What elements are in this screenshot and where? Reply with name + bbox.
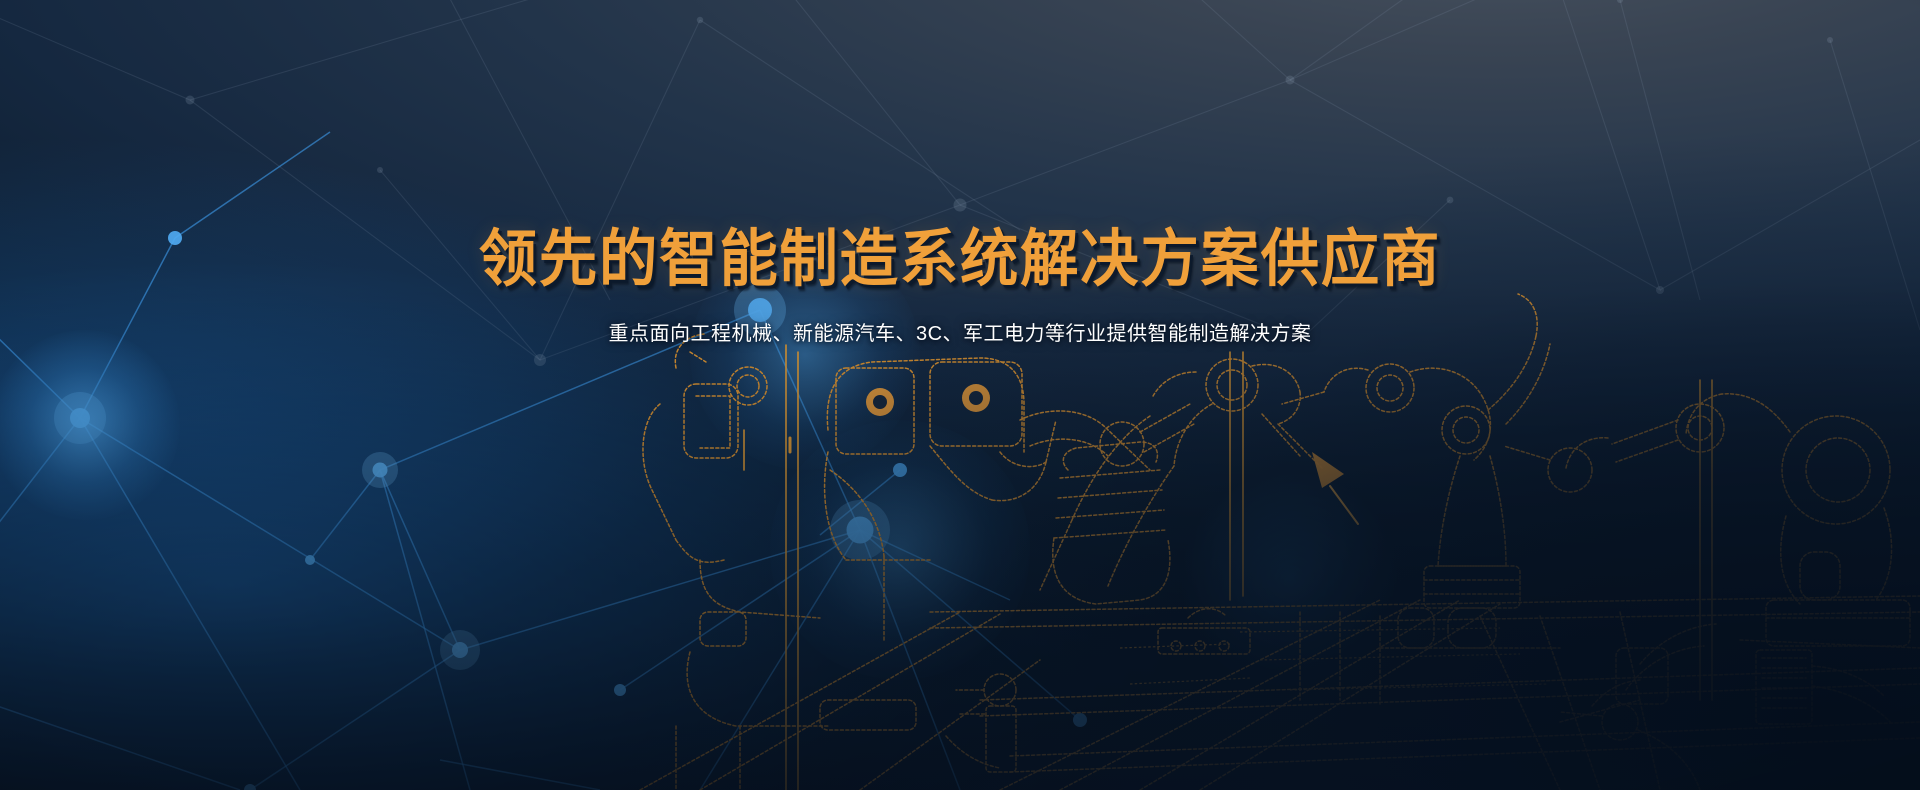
hero-banner: 领先的智能制造系统解决方案供应商 重点面向工程机械、新能源汽车、3C、军工电力等…	[0, 0, 1920, 790]
background-vignette	[0, 0, 1920, 790]
page-title: 领先的智能制造系统解决方案供应商	[58, 228, 1863, 292]
page-subtitle: 重点面向工程机械、新能源汽车、3C、军工电力等行业提供智能制造解决方案	[0, 320, 1920, 348]
hero-copy: 领先的智能制造系统解决方案供应商 重点面向工程机械、新能源汽车、3C、军工电力等…	[0, 228, 1920, 348]
